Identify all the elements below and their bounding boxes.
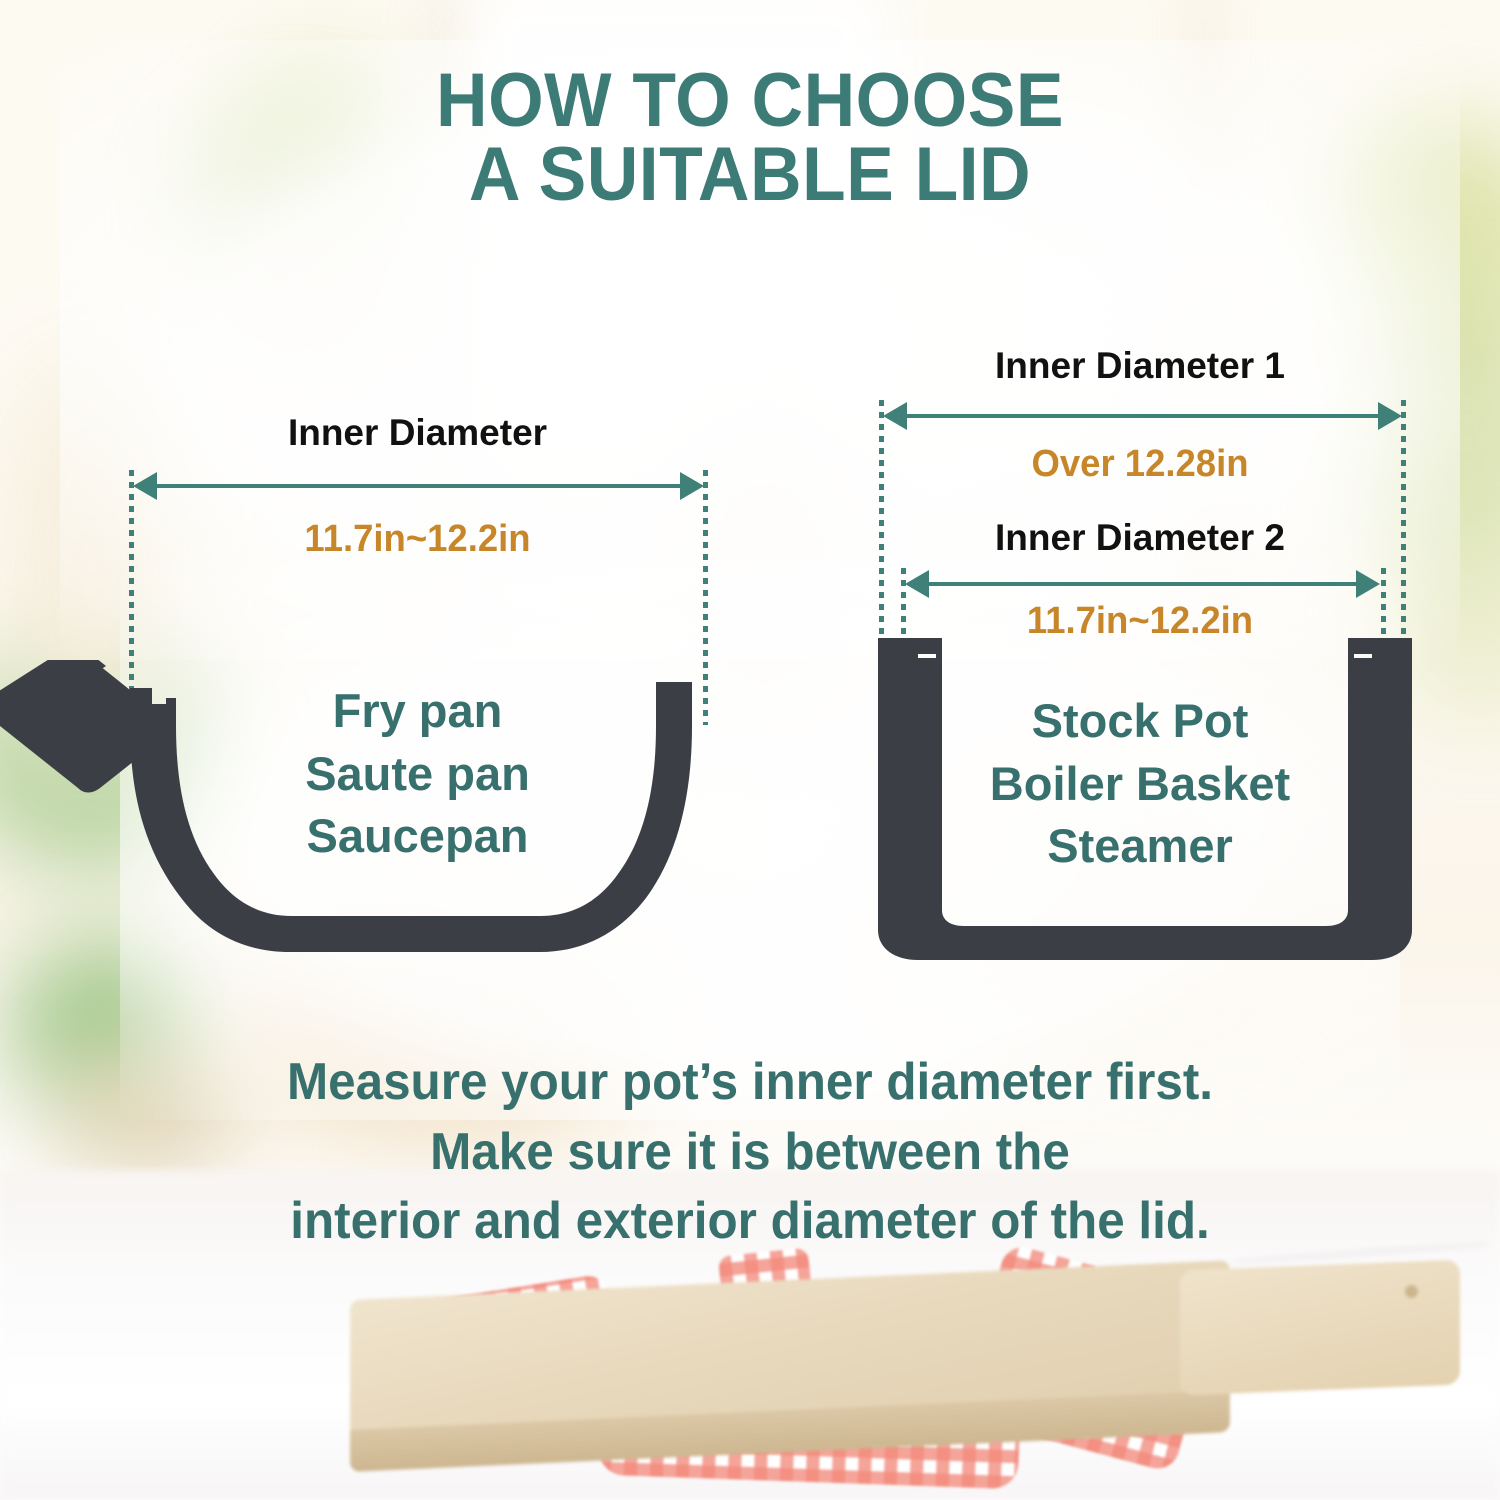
left-pot-type-3: Saucepan <box>130 805 705 868</box>
right-dimension1-value: Over 12.28in <box>890 443 1389 486</box>
footer-instructions: Measure your pot’s inner diameter first.… <box>38 1048 1463 1257</box>
left-dimension-line <box>155 484 682 488</box>
left-pot-type-list: Fry pan Saute pan Saucepan <box>130 680 705 868</box>
left-pot-type-1: Fry pan <box>130 680 705 743</box>
right-dimension2-line <box>927 582 1357 586</box>
left-dimension-value: 11.7in~12.2in <box>142 518 694 561</box>
left-pot-type-2: Saute pan <box>130 743 705 806</box>
cutting-board-handle <box>1180 1260 1460 1396</box>
cutting-board-hanging-hole <box>1405 1285 1418 1298</box>
right-arrowhead2-left <box>905 570 929 598</box>
right-pot-type-2: Boiler Basket <box>880 753 1400 816</box>
right-outer-guide-dotted-right <box>1401 400 1406 650</box>
cutting-board <box>350 1260 1470 1490</box>
right-dimension2-label: Inner Diameter 2 <box>880 517 1400 559</box>
infographic-canvas: HOW TO CHOOSE A SUITABLE LID Inner Diame… <box>0 0 1500 1500</box>
left-arrowhead-right <box>680 472 704 500</box>
footer-line-2: Make sure it is between the <box>38 1118 1463 1188</box>
left-dimension-label: Inner Diameter <box>130 412 705 454</box>
right-dimension1-label: Inner Diameter 1 <box>880 345 1400 387</box>
right-arrowhead2-right <box>1356 570 1380 598</box>
right-arrowhead1-left <box>883 402 907 430</box>
footer-line-3: interior and exterior diameter of the li… <box>38 1187 1463 1257</box>
right-pot-type-1: Stock Pot <box>880 690 1400 753</box>
page-title: HOW TO CHOOSE A SUITABLE LID <box>45 64 1455 213</box>
left-arrowhead-left <box>133 472 157 500</box>
right-pot-type-list: Stock Pot Boiler Basket Steamer <box>880 690 1400 878</box>
right-pot-type-3: Steamer <box>880 815 1400 878</box>
title-line-1: HOW TO CHOOSE <box>436 58 1064 143</box>
right-dimension1-line <box>905 414 1379 418</box>
title-line-2: A SUITABLE LID <box>45 138 1455 212</box>
right-arrowhead1-right <box>1378 402 1402 430</box>
footer-line-1: Measure your pot’s inner diameter first. <box>38 1048 1463 1118</box>
